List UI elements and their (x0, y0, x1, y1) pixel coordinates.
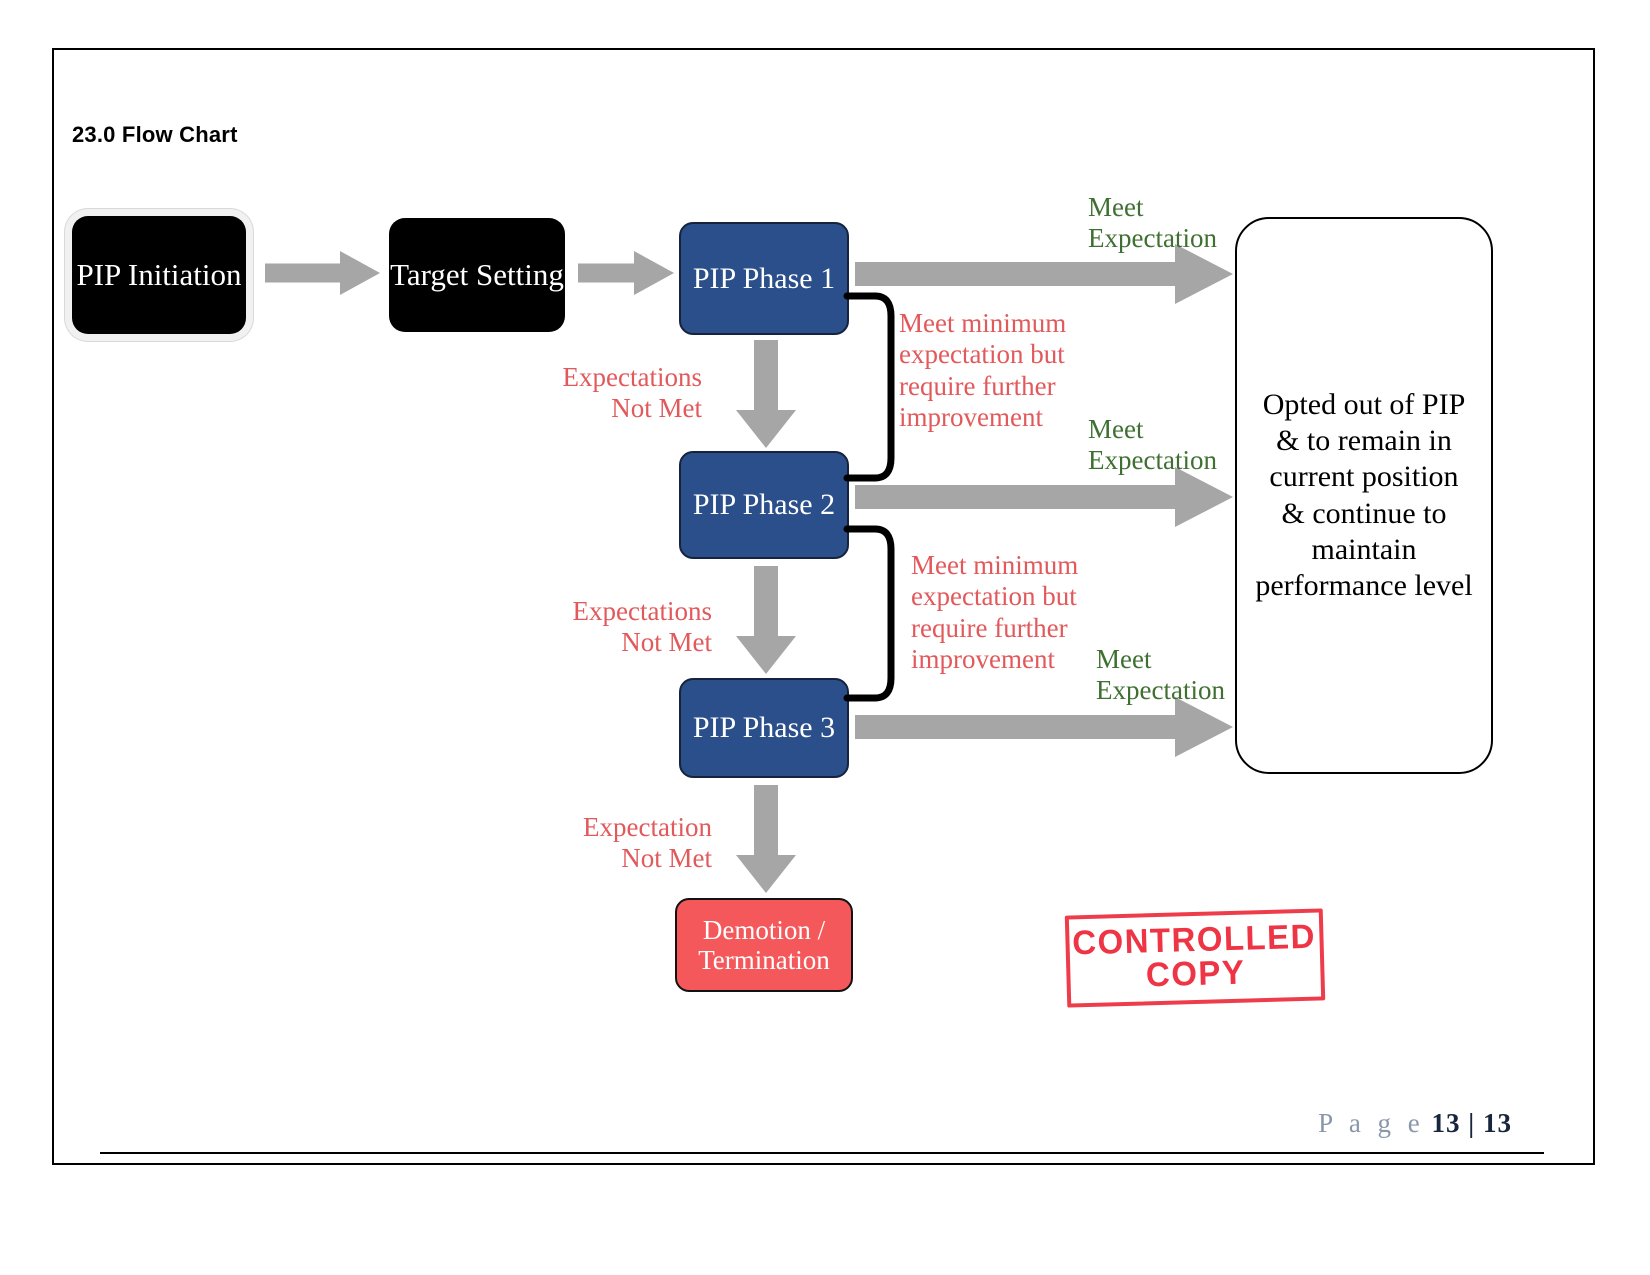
label-meet-minimum-2: Meet minimum expectation but require fur… (911, 550, 1101, 675)
node-target-setting-label: Target Setting (389, 257, 565, 292)
page-numbers: 13 | 13 (1432, 1108, 1512, 1138)
node-pip-phase-1[interactable]: PIP Phase 1 (679, 222, 849, 335)
label-meet-expectation-2: Meet Expectation (1088, 414, 1268, 477)
node-pip-initiation-label: PIP Initiation (72, 257, 246, 292)
arrow-target-to-phase1 (578, 251, 674, 295)
node-pip-phase-3-label: PIP Phase 3 (681, 711, 847, 745)
stamp-line-2: COPY (1145, 956, 1245, 994)
elbow-phase2-to-phase3 (845, 525, 905, 702)
label-expectations-not-met-2: Expectations Not Met (500, 596, 712, 659)
label-expectation-not-met-3: Expectation Not Met (500, 812, 712, 875)
label-meet-minimum-1: Meet minimum expectation but require fur… (899, 308, 1089, 433)
label-meet-expectation-3: Meet Expectation (1096, 644, 1276, 707)
node-target-setting[interactable]: Target Setting (389, 218, 565, 332)
elbow-phase1-to-phase2 (845, 292, 905, 482)
label-meet-expectation-1: Meet Expectation (1088, 192, 1268, 255)
page-title: 23.0 Flow Chart (72, 122, 238, 148)
controlled-copy-stamp: CONTROLLED COPY (1065, 908, 1325, 1007)
node-pip-phase-2-label: PIP Phase 2 (681, 488, 847, 522)
page-word: P a g e (1318, 1108, 1425, 1138)
node-pip-phase-3[interactable]: PIP Phase 3 (679, 678, 849, 778)
arrow-phase2-not-met (735, 566, 797, 674)
node-pip-initiation[interactable]: PIP Initiation (72, 216, 246, 334)
arrow-phase1-not-met (735, 340, 797, 448)
arrow-phase3-not-met (735, 785, 797, 893)
node-demotion-termination-label: Demotion / Termination (677, 915, 851, 976)
node-opted-out-label: Opted out of PIP & to remain in current … (1255, 387, 1473, 605)
label-expectations-not-met-1: Expectations Not Met (490, 362, 702, 425)
arrow-initiation-to-target (265, 251, 380, 295)
footer-divider (100, 1152, 1544, 1154)
node-pip-phase-2[interactable]: PIP Phase 2 (679, 451, 849, 559)
node-demotion-termination[interactable]: Demotion / Termination (675, 898, 853, 992)
page-number-footer: P a g e 13 | 13 (1318, 1108, 1512, 1139)
node-pip-phase-1-label: PIP Phase 1 (681, 262, 847, 296)
stamp-text: CONTROLLED COPY (1065, 908, 1325, 1007)
